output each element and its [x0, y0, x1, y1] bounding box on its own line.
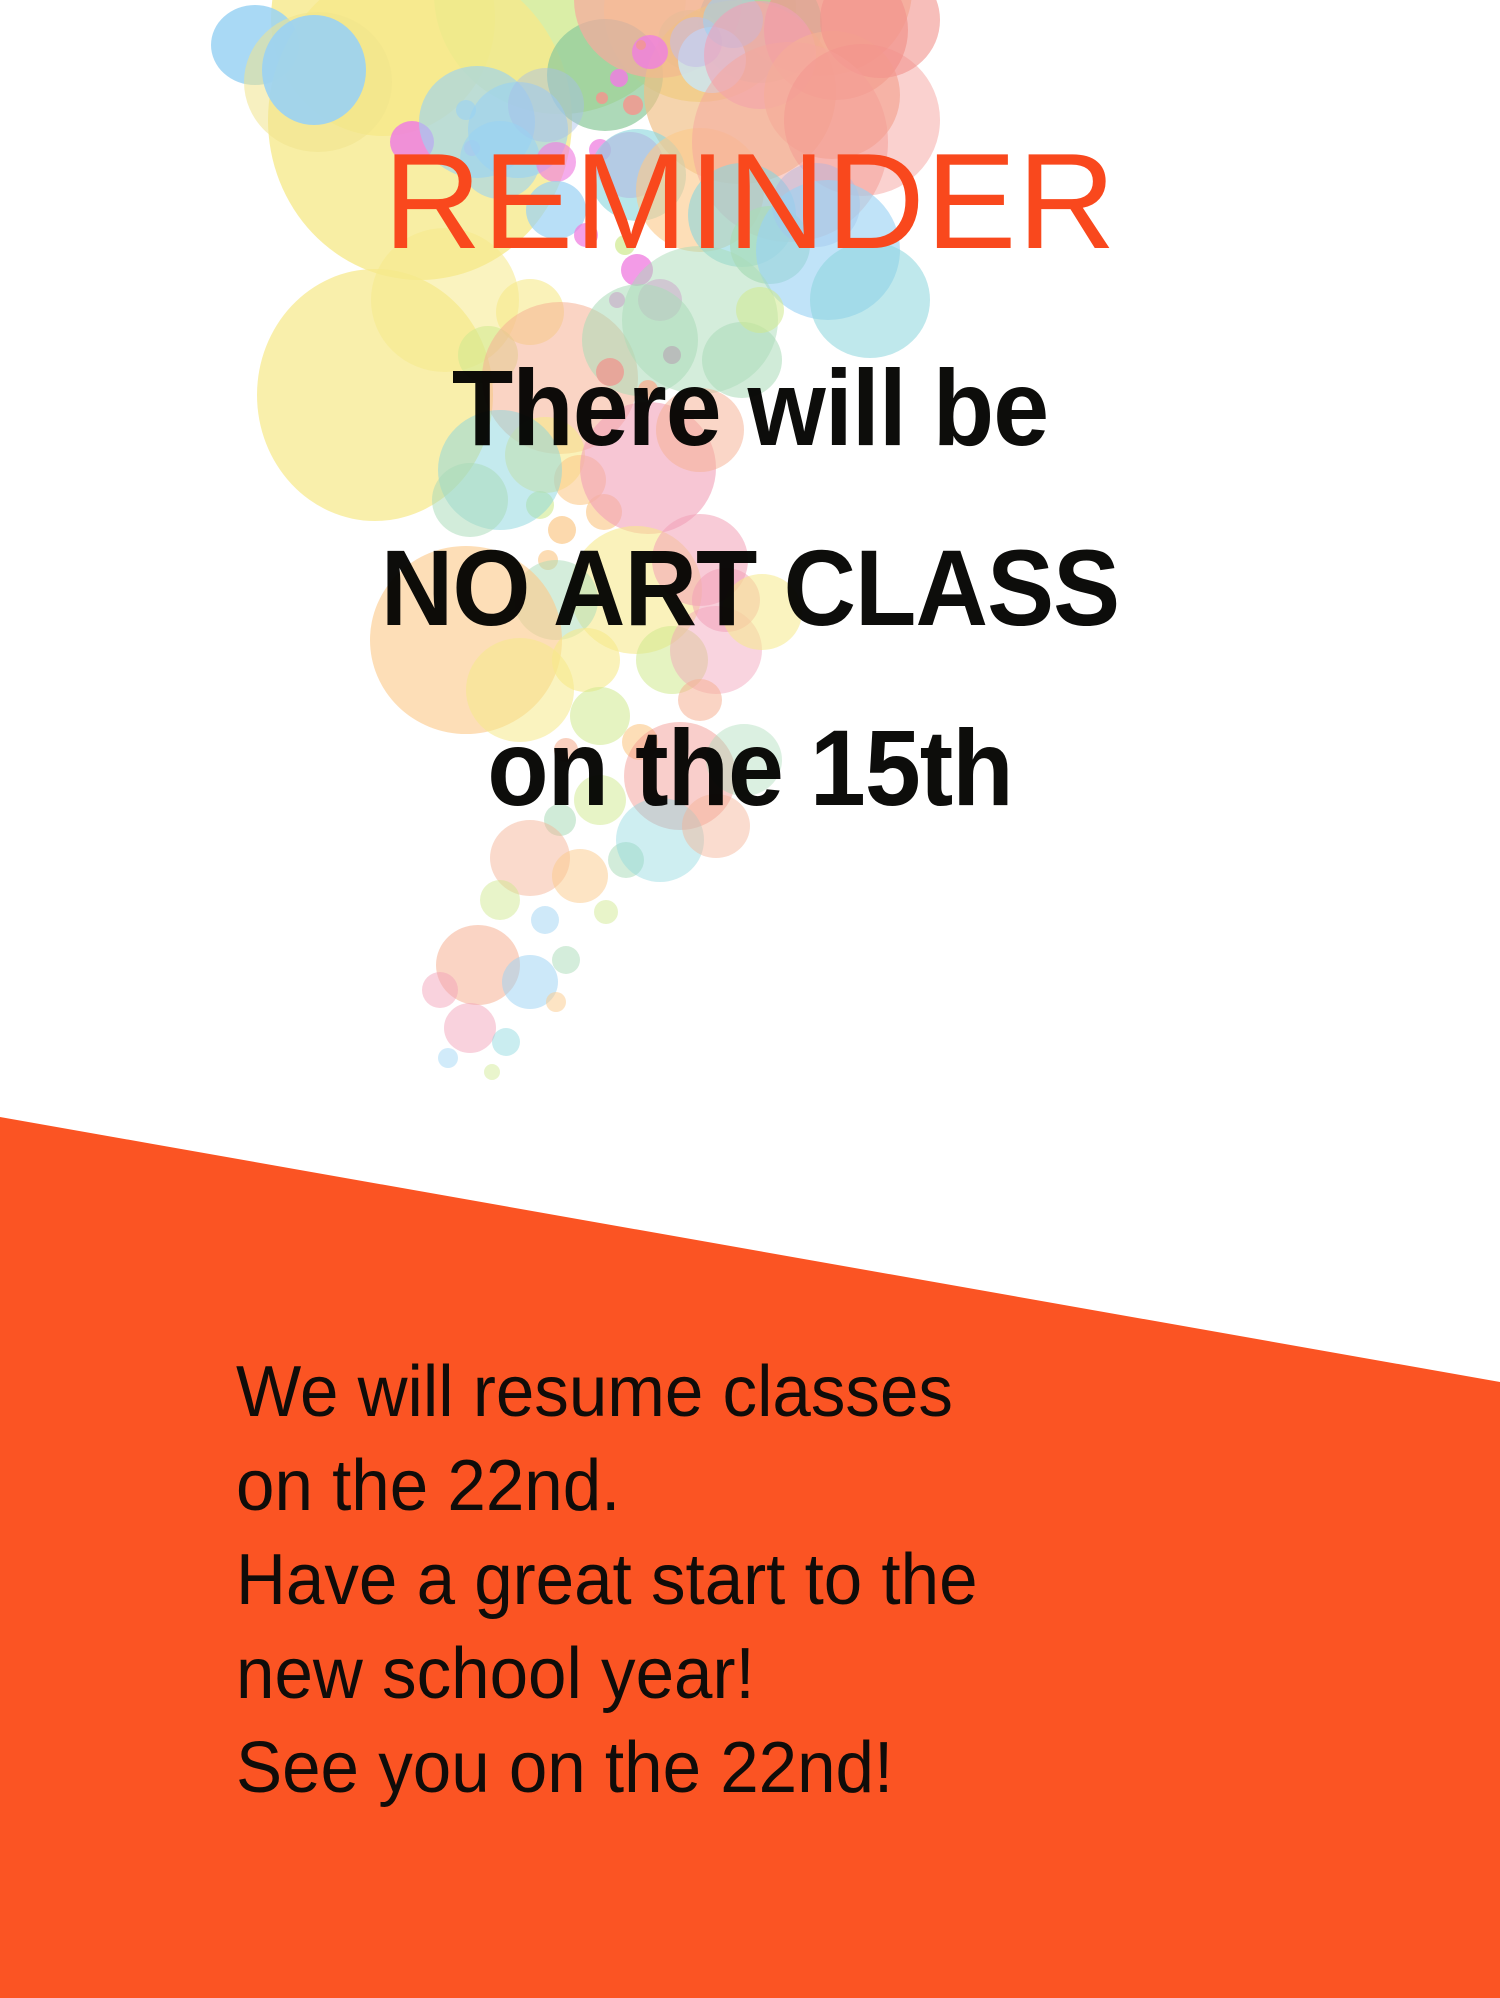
announcement-line-2: NO ART CLASS — [53, 498, 1448, 678]
footer-message-block: We will resume classes on the 22nd. Have… — [236, 1345, 1136, 1815]
footer-line-1: We will resume classes — [236, 1345, 1100, 1439]
headline-stack: REMINDER There will be NO ART CLASS on t… — [0, 0, 1500, 1130]
announcement-line-3: on the 15th — [53, 678, 1448, 858]
poster-canvas: REMINDER There will be NO ART CLASS on t… — [0, 0, 1500, 1998]
footer-line-3: Have a great start to the — [236, 1533, 1100, 1627]
footer-line-5: See you on the 22nd! — [236, 1721, 1100, 1815]
page-title: REMINDER — [0, 130, 1500, 273]
footer-line-2: on the 22nd. — [236, 1439, 1100, 1533]
footer-line-4: new school year! — [236, 1627, 1100, 1721]
announcement-line-1: There will be — [53, 318, 1448, 498]
announcement-block: There will be NO ART CLASS on the 15th — [0, 318, 1500, 858]
